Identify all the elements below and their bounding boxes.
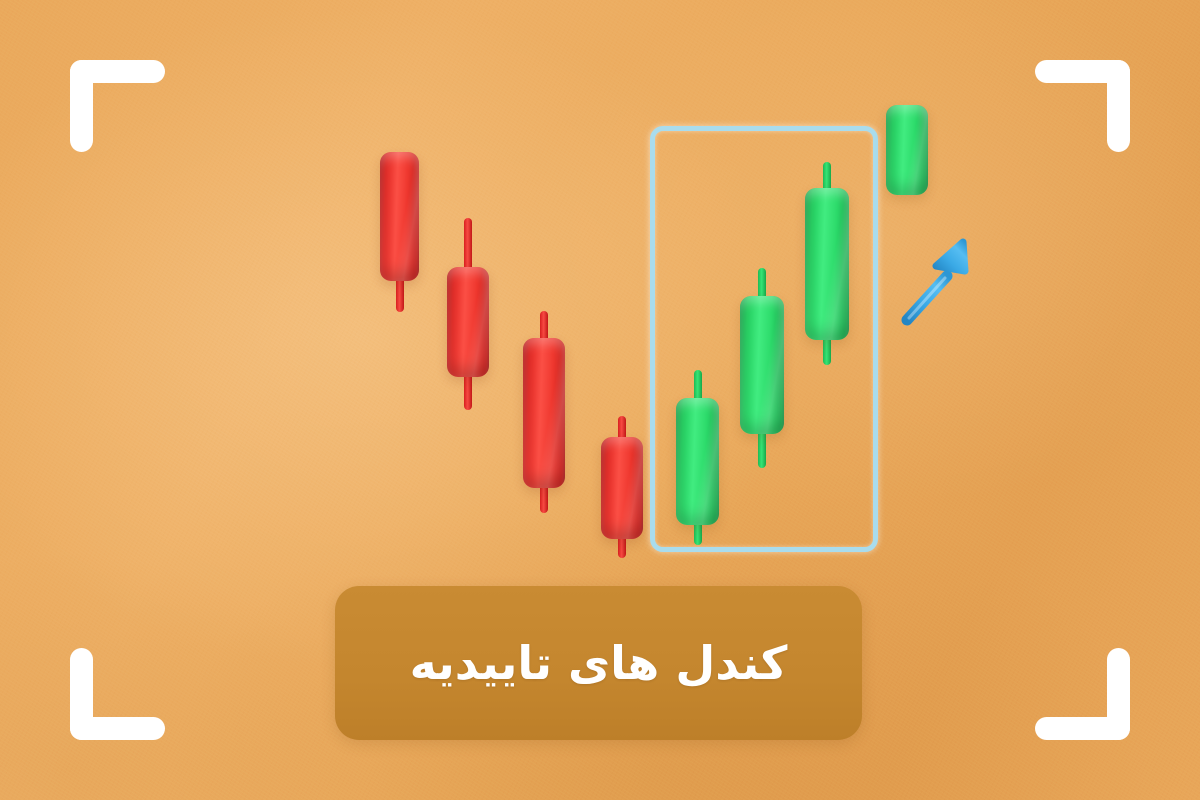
candle-body xyxy=(447,267,489,377)
bullish-trend-arrow-icon xyxy=(895,235,980,330)
frame-corner-top-left-icon xyxy=(70,60,165,152)
candle-bearish-4 xyxy=(601,416,643,558)
candle-body xyxy=(523,338,565,488)
candle-body xyxy=(886,105,928,195)
candle-body xyxy=(380,152,419,281)
infographic-canvas: کندل های تاییدیه xyxy=(0,0,1200,800)
candle-bullish-3 xyxy=(805,162,849,365)
frame-corner-bottom-left-icon xyxy=(70,648,165,740)
candle-bullish-1 xyxy=(676,370,719,545)
candle-body xyxy=(805,188,849,340)
candle-body xyxy=(601,437,643,539)
candle-bullish-4 xyxy=(886,105,928,195)
caption-text: کندل های تاییدیه xyxy=(410,636,788,690)
frame-corner-top-right-icon xyxy=(1035,60,1130,152)
candle-bullish-2 xyxy=(740,268,784,468)
candle-body xyxy=(740,296,784,434)
candle-bearish-1 xyxy=(380,152,419,312)
frame-corner-bottom-right-icon xyxy=(1035,648,1130,740)
candle-bearish-2 xyxy=(447,218,489,410)
caption-banner: کندل های تاییدیه xyxy=(335,586,862,740)
candle-bearish-3 xyxy=(523,311,565,513)
candle-body xyxy=(676,398,719,525)
